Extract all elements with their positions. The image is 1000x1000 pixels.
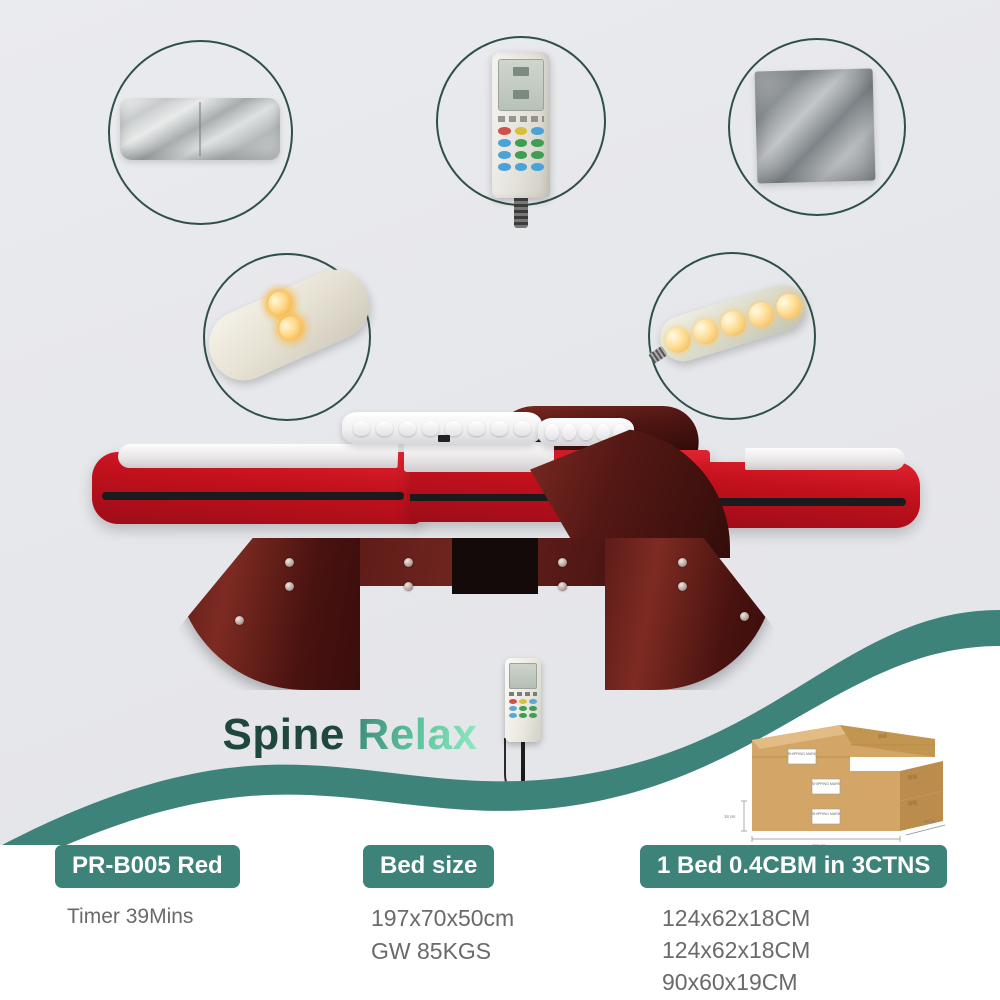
model-badge: PR-B005 Red [55,845,240,888]
spec-info-bar: PR-B005 Red Timer 39Mins Bed size 197x70… [0,845,1000,1000]
jade-projector-icon [205,290,373,360]
base-screw [285,582,294,591]
bed-size-detail-line: GW 85KGS [371,935,514,968]
massage-roller-heads [342,412,542,444]
packing-detail-line: 124x62x18CM [662,934,947,966]
bed-apron-dark [452,538,538,594]
packing-badge: 1 Bed 0.4CBM in 3CTNS [640,845,947,888]
title-word-secondary: Relax [358,710,478,759]
bed-sheet-left [118,444,399,468]
model-detail-line: Timer 39Mins [55,902,240,932]
pillow-icon [120,98,280,160]
spec-column-bed-size: Bed size 197x70x50cm GW 85KGS [363,845,514,969]
base-screw [404,558,413,567]
carton-dim-depth: 64 cm [924,819,936,824]
page-title: Spine Relax [0,710,700,760]
grey-mat-icon [756,70,874,182]
carton-dim-height: 18 cm [724,814,736,819]
base-screw [678,558,687,567]
bed-size-detail-line: 197x70x50cm [371,902,514,935]
jade-stick-icon [658,300,808,346]
shipping-label-text: SHIPPING MARK [788,752,817,756]
product-poster: Spine Relax SHIPPING MARK SHIPPING MARK … [0,0,1000,1000]
carton-stack-illustration: SHIPPING MARK SHIPPING MARK SHIPPING MAR… [700,705,980,855]
bed-sheet-mid [404,442,554,472]
base-screw [404,582,413,591]
packing-detail-line: 90x60x19CM [662,966,947,998]
title-word-primary: Spine [223,710,345,759]
shipping-label-text: SHIPPING MARK [812,812,841,816]
base-screw [678,582,687,591]
bed-size-badge: Bed size [363,845,494,888]
remote-control-icon [492,52,550,198]
packing-detail-line: 124x62x18CM [662,902,947,934]
bed-mattress-right [700,462,920,528]
base-screw [285,558,294,567]
bed-sheet-right [745,448,905,470]
base-screw [558,582,567,591]
shipping-label-text: SHIPPING MARK [812,782,841,786]
spec-column-model: PR-B005 Red Timer 39Mins [55,845,240,932]
spec-column-packing: 1 Bed 0.4CBM in 3CTNS 124x62x18CM 124x62… [640,845,947,999]
base-screw [558,558,567,567]
